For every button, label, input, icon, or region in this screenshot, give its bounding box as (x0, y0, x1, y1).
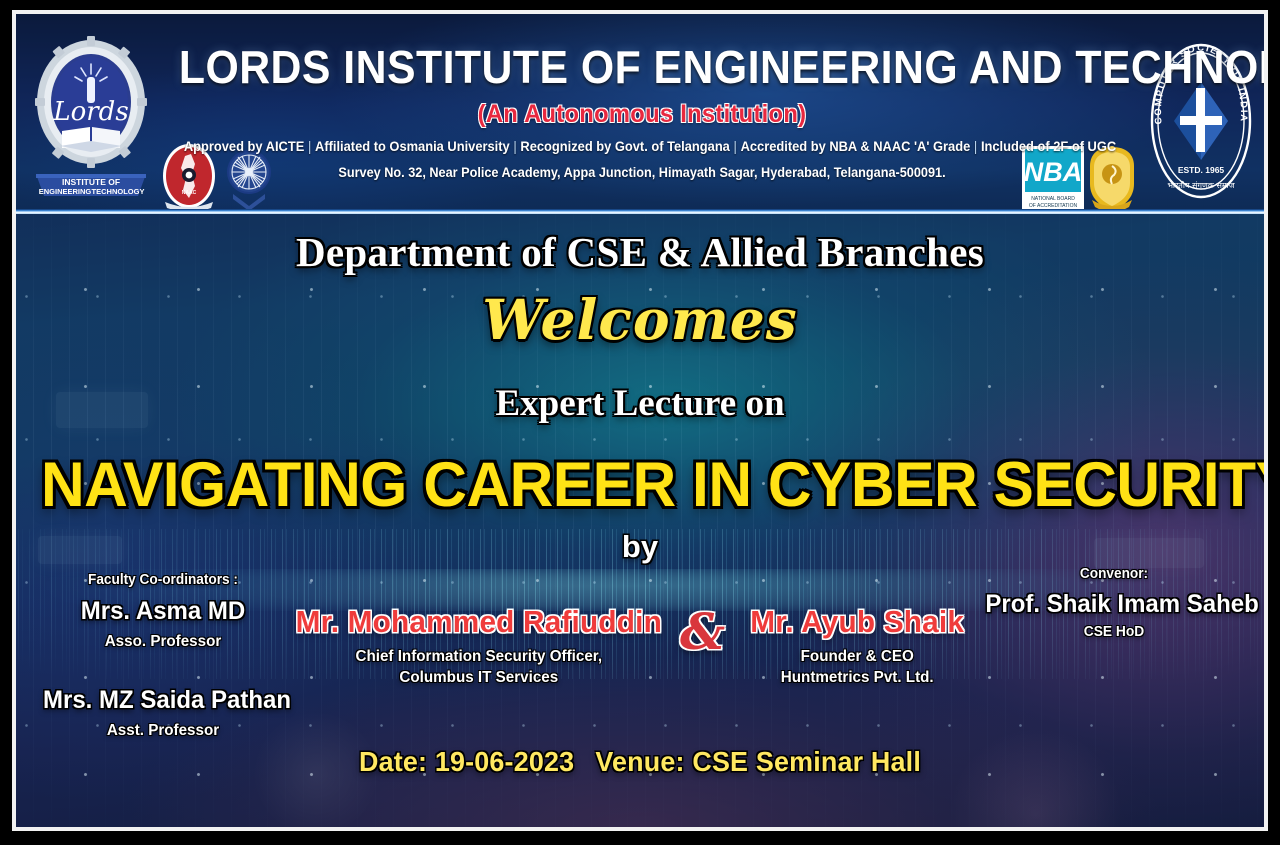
event-banner: Lords INSTITUTE OF ENGINEERING (16, 14, 1264, 827)
svg-text:TECHNOLOGY: TECHNOLOGY (92, 187, 145, 196)
institute-title-block: LORDS INSTITUTE OF ENGINEERING AND TECHN… (144, 40, 1140, 180)
approval-separator: | (304, 138, 315, 154)
approval-item-1: Affiliated to Osmania University (315, 138, 510, 154)
svg-text:ESTD. 1965: ESTD. 1965 (1178, 165, 1225, 175)
svg-text:NAAC: NAAC (182, 190, 197, 196)
approval-separator: | (510, 138, 521, 154)
svg-text:NATIONAL BOARD: NATIONAL BOARD (1031, 196, 1075, 202)
institute-header: Lords INSTITUTE OF ENGINEERING (16, 14, 1264, 214)
faculty-member-2-name: Mrs. MZ Saida Pathan (43, 686, 283, 715)
approvals-line: Approved by AICTE|Affiliated to Osmania … (184, 138, 1100, 154)
speaker-2: Mr. Ayub Shaik Founder & CEO Huntmetrics… (736, 604, 978, 688)
lecture-type-line: Expert Lecture on (16, 382, 1264, 425)
institute-address: Survey No. 32, Near Police Academy, Appa… (174, 165, 1110, 180)
approval-separator: | (970, 138, 981, 154)
svg-text:भारतीय संगणक समाज: भारतीय संगणक समाज (1167, 180, 1235, 190)
schedule-line: Date: 19-06-2023Venue: CSE Seminar Hall (41, 746, 1239, 778)
speaker-1: Mr. Mohammed Rafiuddin Chief Information… (288, 604, 670, 688)
speakers-row: Mr. Mohammed Rafiuddin Chief Information… (288, 604, 978, 688)
speaker-2-role-line2: Huntmetrics Pvt. Ltd. (742, 667, 972, 688)
approval-item-3: Accredited by NBA & NAAC 'A' Grade (741, 138, 971, 154)
speaker-1-name: Mr. Mohammed Rafiuddin (296, 604, 662, 640)
department-line: Department of CSE & Allied Branches (16, 228, 1264, 276)
convenor-label: Convenor: (988, 566, 1240, 582)
speaker-2-role: Founder & CEO Huntmetrics Pvt. Ltd. (742, 646, 972, 688)
faculty-member-2-designation: Asst. Professor (44, 722, 282, 740)
event-body: Department of CSE & Allied Branches Welc… (16, 214, 1264, 827)
speaker-1-role-line2: Columbus IT Services (298, 667, 660, 688)
poster-white-border: Lords INSTITUTE OF ENGINEERING (12, 10, 1268, 831)
ampersand-separator: & (670, 604, 736, 659)
institute-name: LORDS INSTITUTE OF ENGINEERING AND TECHN… (179, 40, 1105, 94)
convenor-name: Prof. Shaik Imam Saheb (985, 590, 1242, 619)
poster-outer-frame: Lords INSTITUTE OF ENGINEERING (0, 0, 1280, 845)
approval-item-0: Approved by AICTE (184, 138, 304, 154)
speaker-2-role-line1: Founder & CEO (742, 646, 972, 667)
faculty-coordinators-block: Faculty Co-ordinators : Mrs. Asma MD Ass… (38, 572, 288, 740)
faculty-member-1-name: Mrs. Asma MD (43, 597, 283, 626)
speaker-1-role-line1: Chief Information Security Officer, (298, 646, 660, 667)
approval-item-4: Included of 2F of UGC (981, 138, 1116, 154)
svg-text:ENGINEERING: ENGINEERING (39, 187, 92, 196)
lords-institute-logo: Lords INSTITUTE OF ENGINEERING (32, 28, 150, 206)
faculty-coordinators-label: Faculty Co-ordinators : (46, 572, 281, 588)
approval-item-2: Recognized by Govt. of Telangana (520, 138, 729, 154)
welcomes-word: Welcomes (16, 287, 1264, 352)
speaker-2-name: Mr. Ayub Shaik (740, 604, 973, 640)
faculty-member-1-designation: Asso. Professor (44, 633, 282, 651)
autonomous-status: (An Autonomous Institution) (169, 100, 1115, 129)
event-title: NAVIGATING CAREER IN CYBER SECURITY (41, 449, 1239, 521)
faculty-spacer (38, 651, 288, 677)
speaker-1-role: Chief Information Security Officer, Colu… (298, 646, 660, 688)
svg-text:Lords: Lords (52, 97, 128, 127)
event-date: Date: 19-06-2023 (359, 746, 574, 777)
by-word: by (16, 529, 1264, 565)
event-venue: Venue: CSE Seminar Hall (595, 746, 921, 777)
svg-text:INSTITUTE OF: INSTITUTE OF (62, 177, 120, 187)
convenor-designation: CSE HoD (987, 624, 1242, 640)
convenor-block: Convenor: Prof. Shaik Imam Saheb CSE HoD (980, 566, 1248, 640)
approval-separator: | (730, 138, 741, 154)
